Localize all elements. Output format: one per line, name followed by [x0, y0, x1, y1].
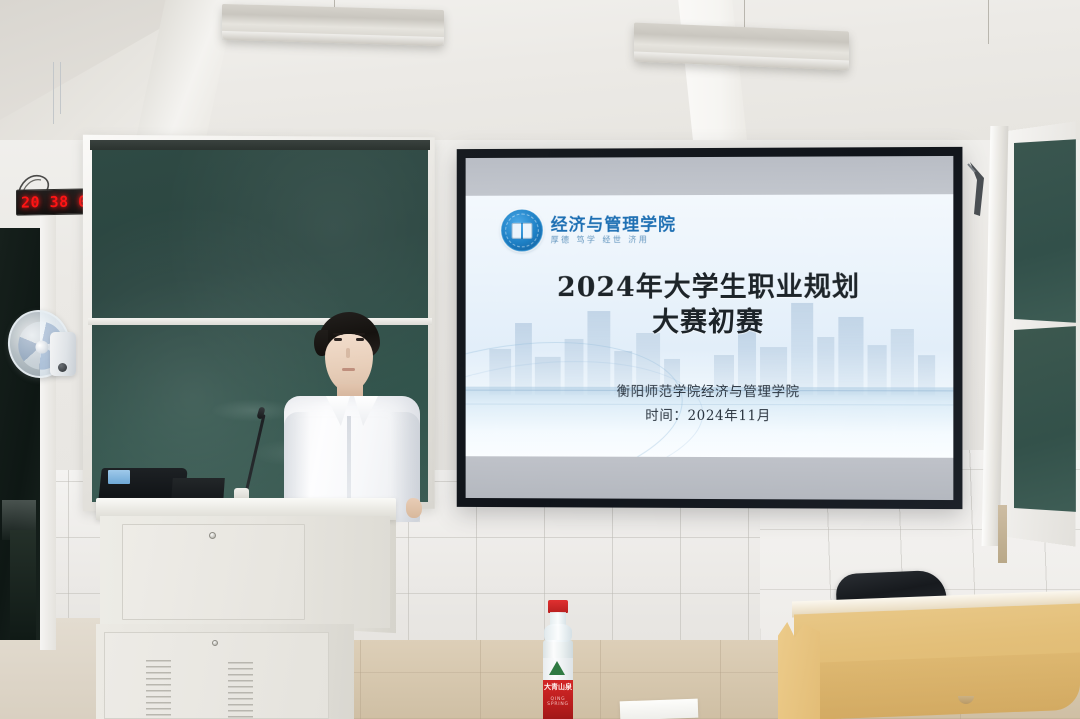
slide-title-line-1: 2024年大学生职业规划 [466, 271, 954, 306]
wall-fan[interactable] [8, 310, 80, 388]
slide-logo: 经济与管理学院 厚德 笃学 经世 济用 [501, 209, 676, 251]
bottle-label-lower: 大青山泉 QING SPRING [543, 680, 573, 719]
podium-lower-lock-icon[interactable] [212, 640, 218, 646]
podium-vent [228, 662, 253, 719]
slide-title-line-2: 大赛初赛 [466, 305, 954, 340]
slide-subtitle-line-1: 衡阳师范学院经济与管理学院 [466, 381, 954, 405]
wall-bracket-icon [966, 160, 988, 218]
presenter-nose [346, 348, 350, 358]
presentation-slide: 经济与管理学院 厚德 笃学 经世 济用 2024年大学生职业规划 大赛初赛 衡阳… [466, 194, 954, 476]
water-bottle: 大青山泉 QING SPRING [537, 600, 579, 719]
desk-end-cap [778, 622, 820, 719]
presenter [278, 312, 426, 522]
podium-vent [146, 660, 171, 719]
ceiling [0, 0, 1080, 152]
bottle-brand-en: QING SPRING [543, 697, 573, 707]
paper-on-floor [620, 699, 699, 719]
led-clock-text: 20 38 0 [21, 194, 88, 210]
slide-subtitle: 衡阳师范学院经济与管理学院 时间：2024年11月 [466, 381, 954, 429]
bottle-brand-cn: 大青山泉 [543, 683, 573, 692]
slide-subtitle-line-2: 时间：2024年11月 [466, 404, 954, 429]
presenter-hand [406, 498, 422, 518]
projector-screen: 经济与管理学院 厚德 笃学 经世 济用 2024年大学生职业规划 大赛初赛 衡阳… [457, 147, 963, 509]
ceiling-beam-right [678, 0, 749, 154]
chalkboard-top-rail [90, 140, 430, 150]
podium-device-screen [108, 470, 130, 484]
doorway-object [10, 530, 36, 640]
podium-lock-icon[interactable] [209, 532, 216, 539]
slide-title: 2024年大学生职业规划 大赛初赛 [466, 271, 954, 341]
fan-pull-cord[interactable] [60, 62, 61, 114]
chalkboard-right-surface [1014, 139, 1076, 323]
chalkboard-right-surface [1014, 326, 1076, 512]
chalkboard-right-leg [998, 505, 1007, 563]
presenter-eye [356, 338, 364, 341]
slide-logo-institution: 经济与管理学院 [551, 217, 676, 234]
presenter-mouth [342, 368, 355, 371]
doorway-frame [40, 210, 56, 650]
wooden-desk [778, 596, 1080, 719]
fan-pull-cord[interactable] [53, 62, 54, 124]
projector-screen-surface: 经济与管理学院 厚德 笃学 经世 济用 2024年大学生职业规划 大赛初赛 衡阳… [466, 156, 954, 500]
open-book-seal-icon [501, 209, 543, 251]
presenter-eyebrow [355, 333, 365, 335]
slide-logo-text: 经济与管理学院 厚德 笃学 经世 济用 [551, 217, 676, 244]
screen-band-top [466, 156, 954, 196]
led-clock-display: 20 38 0 [16, 188, 92, 215]
presenter-eyebrow [333, 333, 343, 335]
presenter-eye [334, 338, 342, 341]
slide-logo-motto: 厚德 笃学 经世 济用 [551, 236, 676, 244]
desk-front-shading [794, 653, 1080, 719]
light-cord [744, 0, 745, 30]
light-cord [988, 0, 989, 44]
fan-knob[interactable] [58, 363, 67, 372]
classroom-scene: 20 38 0 [0, 0, 1080, 719]
mountain-icon [549, 661, 565, 675]
ceiling-light-fixture [222, 4, 444, 46]
screen-band-bottom [466, 456, 954, 500]
